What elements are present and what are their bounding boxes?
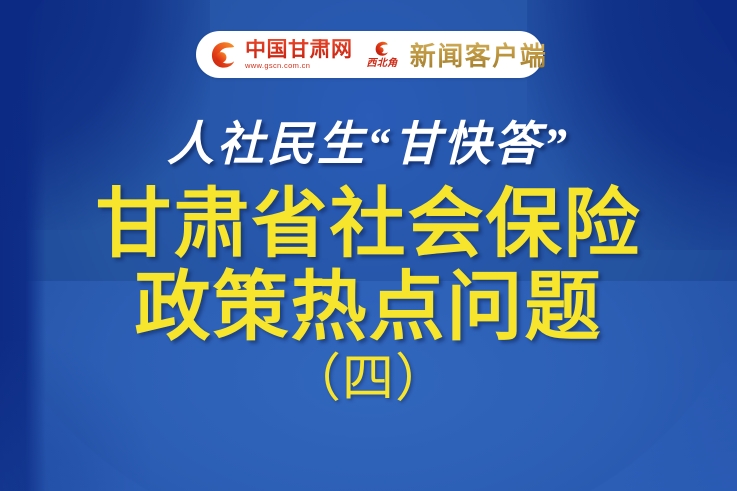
poster-subtitle: 人社民生“甘快答” — [0, 118, 737, 173]
gscn-url: www.gscn.com.cn — [245, 62, 353, 70]
poster-root: 中国甘肃网 www.gscn.com.cn 西北角 新闻客户端 人 — [0, 0, 737, 491]
gscn-swirl-icon — [209, 39, 240, 70]
xibeijiao-logo: 西北角 — [367, 40, 398, 69]
gscn-wordmark: 中国甘肃网 www.gscn.com.cn — [245, 39, 353, 70]
gscn-name: 中国甘肃网 — [245, 39, 353, 60]
xibeijiao-name: 西北角 — [367, 59, 398, 69]
gscn-logo: 中国甘肃网 www.gscn.com.cn — [209, 39, 353, 70]
brand-banner: 中国甘肃网 www.gscn.com.cn 西北角 新闻客户端 — [196, 31, 543, 78]
poster-title-line-2: 政策热点问题 — [0, 268, 737, 348]
xibeijiao-swirl-icon — [374, 40, 391, 57]
headline-block: 人社民生“甘快答” 甘肃省社会保险 政策热点问题 （四） — [0, 118, 737, 407]
poster-title-line-1: 甘肃省社会保险 — [0, 185, 737, 265]
app-name-label: 新闻客户端 — [410, 36, 548, 73]
poster-title-line-3: （四） — [0, 352, 737, 407]
